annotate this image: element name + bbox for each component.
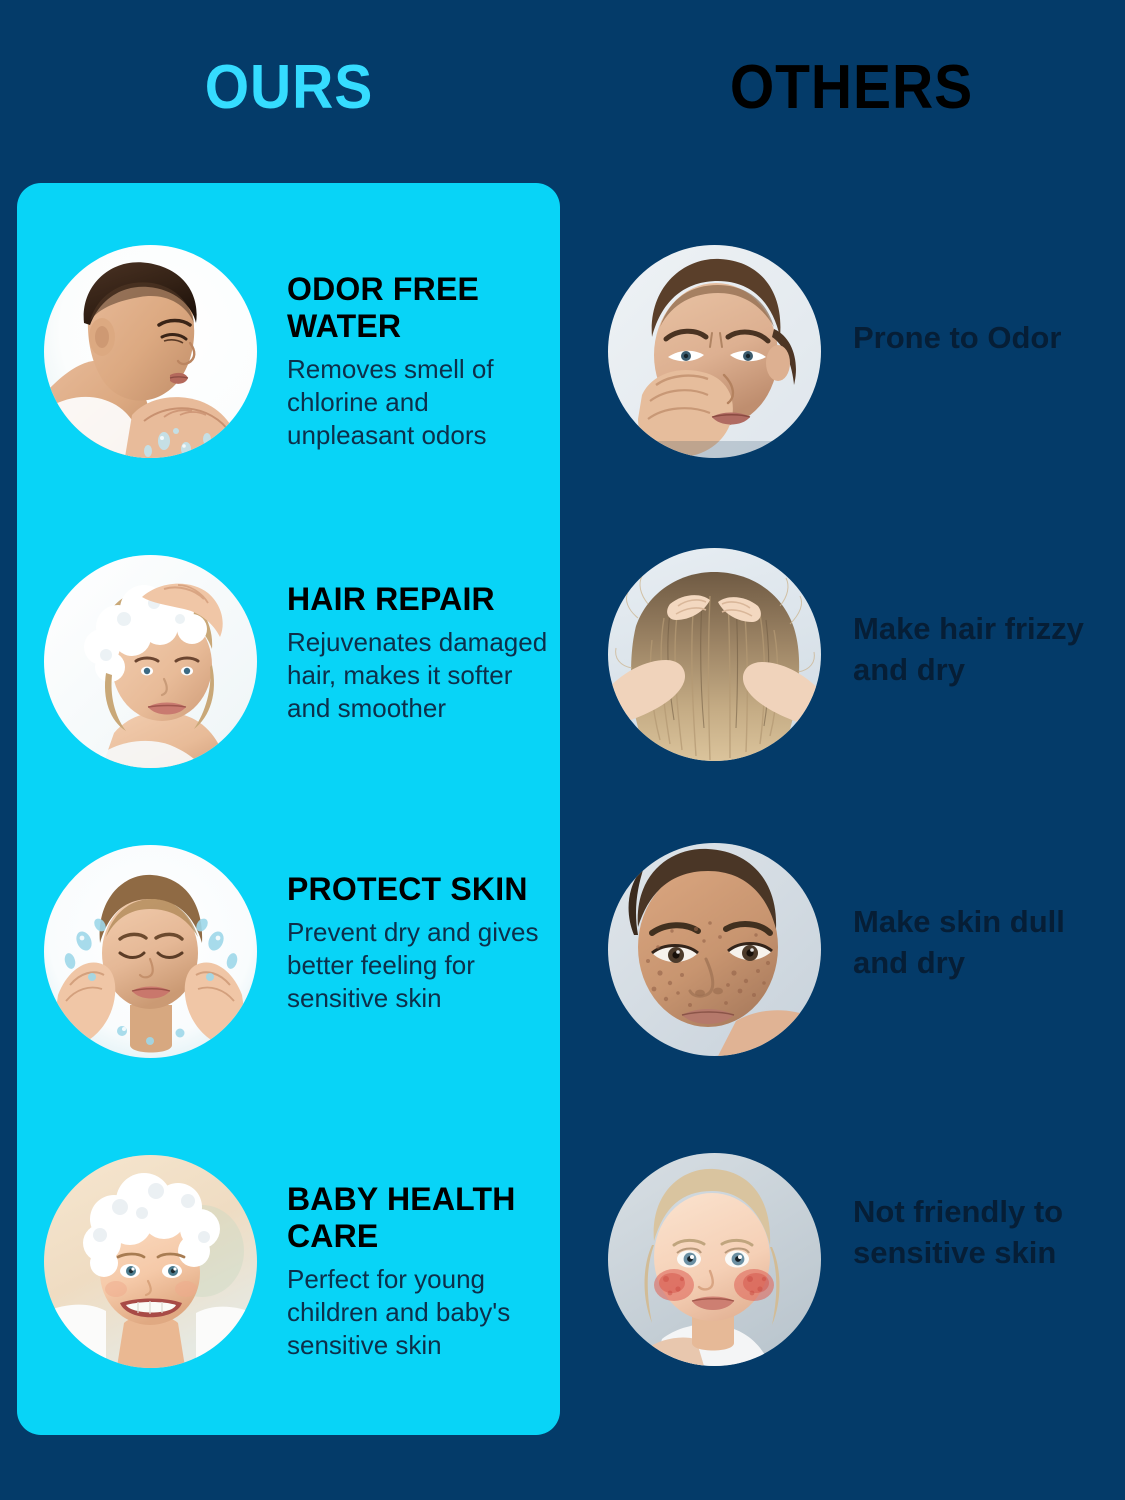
ours-feature-description: Perfect for young children and baby's se…: [287, 1263, 552, 1361]
ours-feature-description: Removes smell of chlorine and unpleasant…: [287, 353, 552, 451]
others-drawback-title: Make skin dull and dry: [853, 901, 1115, 983]
smiling-child-with-shampoo-foam-photo: [44, 1155, 257, 1368]
ours-feature-description: Rejuvenates damaged hair, makes it softe…: [287, 626, 552, 724]
header-row: OURS OTHERS: [0, 0, 1125, 170]
others-drawback-item: Make hair frizzy and dry: [578, 548, 1125, 761]
ours-feature-title: HAIR REPAIR: [287, 581, 552, 618]
ours-header: OURS: [23, 52, 555, 123]
ours-feature-text: BABY HEALTH CARE Perfect for young child…: [257, 1155, 560, 1361]
others-drawback-text: Make skin dull and dry: [821, 843, 1125, 983]
ours-feature-description: Prevent dry and gives better feeling for…: [287, 916, 552, 1014]
ours-feature-item: ODOR FREE WATER Removes smell of chlorin…: [17, 245, 560, 458]
others-drawback-text: Make hair frizzy and dry: [821, 548, 1125, 690]
others-drawback-text: Not friendly to sensitive skin: [821, 1153, 1125, 1273]
ours-feature-text: PROTECT SKIN Prevent dry and gives bette…: [257, 845, 560, 1014]
ours-feature-item: BABY HEALTH CARE Perfect for young child…: [17, 1155, 560, 1368]
ours-feature-title: PROTECT SKIN: [287, 871, 552, 908]
others-drawback-list: Prone to Odor: [578, 183, 1125, 1435]
ours-feature-title: ODOR FREE WATER: [287, 271, 552, 345]
others-drawback-item: Not friendly to sensitive skin: [578, 1153, 1125, 1366]
ours-feature-title: BABY HEALTH CARE: [287, 1181, 552, 1255]
woman-pinching-nose-bad-smell-photo: [608, 245, 821, 458]
frizzy-dry-hair-back-view-photo: [608, 548, 821, 761]
others-drawback-title: Not friendly to sensitive skin: [853, 1191, 1115, 1273]
others-header: OTHERS: [600, 52, 1103, 123]
ours-feature-list: ODOR FREE WATER Removes smell of chlorin…: [17, 183, 560, 1435]
others-drawback-text: Prone to Odor: [821, 245, 1125, 358]
others-drawback-title: Make hair frizzy and dry: [853, 608, 1115, 690]
others-drawback-item: Make skin dull and dry: [578, 843, 1125, 1056]
ours-feature-text: ODOR FREE WATER Removes smell of chlorin…: [257, 245, 560, 451]
ours-feature-item: HAIR REPAIR Rejuvenates damaged hair, ma…: [17, 555, 560, 768]
others-drawback-title: Prone to Odor: [853, 317, 1115, 358]
child-with-red-irritated-cheeks-photo: [608, 1153, 821, 1366]
woman-with-dull-freckled-skin-photo: [608, 843, 821, 1056]
woman-washing-hair-with-shampoo-photo: [44, 555, 257, 768]
woman-splashing-water-on-face-photo: [44, 245, 257, 458]
ours-feature-text: HAIR REPAIR Rejuvenates damaged hair, ma…: [257, 555, 560, 724]
woman-washing-face-with-water-splash-photo: [44, 845, 257, 1058]
others-drawback-item: Prone to Odor: [578, 245, 1125, 458]
ours-feature-item: PROTECT SKIN Prevent dry and gives bette…: [17, 845, 560, 1058]
